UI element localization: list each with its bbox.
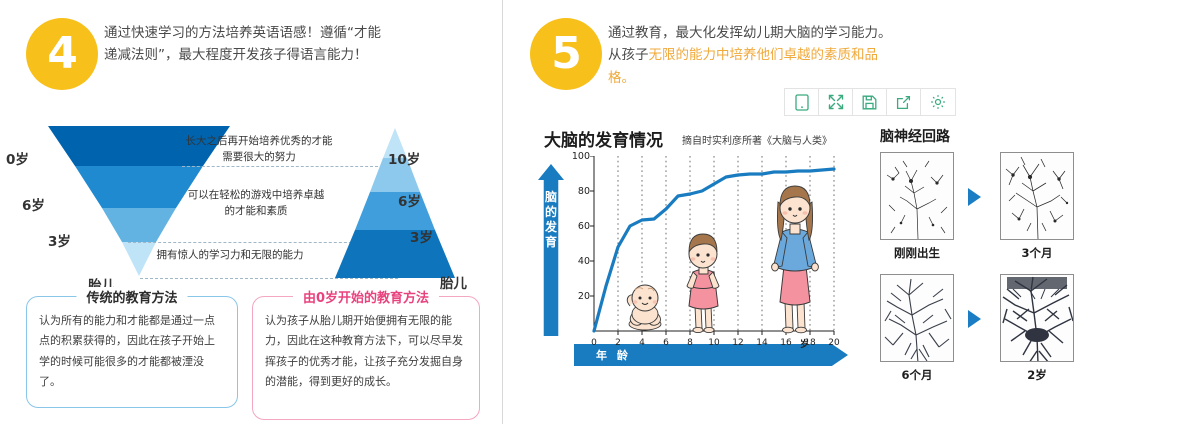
panel-divider <box>502 0 503 424</box>
editor-toolbar[interactable] <box>784 88 956 116</box>
diagram-caption-2: 拥有惊人的学习力和无限的能力 <box>130 248 330 264</box>
chart-subtitle: 摘自时实利彦所著《大脑与人类》 <box>682 132 832 147</box>
neuro-cell-newborn: 刚刚出生 <box>880 152 954 261</box>
baby-illustration <box>627 285 661 330</box>
age-label-left-1: 6岁 <box>22 194 45 214</box>
fullscreen-icon[interactable] <box>819 89 853 115</box>
neuro-cell-3months: 3个月 <box>1000 152 1074 261</box>
diagram-caption-1: 可以在轻松的游戏中培养卓越的才能和素质 <box>176 188 336 220</box>
neuro-caption-2years: 2岁 <box>1000 367 1074 383</box>
diagram-caption-1-text: 可以在轻松的游戏中培养卓越的才能和素质 <box>188 189 325 217</box>
teen-illustration <box>772 186 819 333</box>
zero-age-method-title: 由0岁开始的教育方法 <box>293 287 439 306</box>
y-tick-100: 100 <box>568 151 590 162</box>
traditional-method-title: 传统的教育方法 <box>76 287 187 306</box>
x-tick-2: 2 <box>610 338 626 348</box>
girl-illustration <box>687 234 719 333</box>
age-label-left-0: 0岁 <box>6 148 29 168</box>
neuron-image-6months <box>880 274 954 362</box>
x-tick-8: 8 <box>682 338 698 348</box>
neuron-image-3months <box>1000 152 1074 240</box>
neural-circuit-section: 脑神经回路 <box>880 126 1170 401</box>
x-tick-6: 6 <box>658 338 674 348</box>
neuro-cell-6months: 6个月 <box>880 274 954 383</box>
settings-icon[interactable] <box>921 89 955 115</box>
step-4-description: 通过快速学习的方法培养英语语感！遵循“才能递减法则”，最大程度开发孩子得语言能力… <box>104 22 394 67</box>
traditional-method-body: 认为所有的能力和才能都是通过一点点的积累获得的，因此在孩子开始上学的时候可能很多… <box>39 311 225 392</box>
chart-svg <box>572 156 838 344</box>
x-tick-0: 0 <box>586 338 602 348</box>
y-tick-80: 80 <box>568 186 590 197</box>
arrow-newborn-to-3m <box>968 188 981 206</box>
diagram-caption-0: 长大之后再开始培养优秀的才能需要很大的努力 <box>184 134 334 166</box>
step-badge-4: 4 <box>26 18 98 90</box>
step-5-text-highlight: 无限的能力中培养他们卓越的素质和品格。 <box>608 47 878 85</box>
neural-circuit-title: 脑神经回路 <box>880 126 950 146</box>
x-tick-10: 10 <box>706 338 722 348</box>
neuro-caption-6months: 6个月 <box>880 367 954 383</box>
zero-age-method-body: 认为孩子从胎儿期开始便拥有无限的能力，因此在这种教育方法下，可以尽早发挥孩子的优… <box>265 311 467 392</box>
neuron-image-newborn <box>880 152 954 240</box>
neuron-image-2years <box>1000 274 1074 362</box>
chart-title: 大脑的发育情况 <box>544 126 663 151</box>
x-axis-label: 年 龄 <box>596 347 631 363</box>
y-tick-60: 60 <box>568 221 590 232</box>
y-tick-20: 20 <box>568 291 590 302</box>
brain-development-chart: 大脑的发育情况 摘自时实利彦所著《大脑与人类》 脑的发育 年 龄 100 80 … <box>530 126 870 376</box>
neuro-caption-newborn: 刚刚出生 <box>880 245 954 261</box>
x-tick-4: 4 <box>634 338 650 348</box>
x-tick-14: 14 <box>754 338 770 348</box>
zero-age-method-box: 由0岁开始的教育方法 认为孩子从胎儿期开始便拥有无限的能力，因此在这种教育方法下… <box>252 296 480 420</box>
step-4-text: 通过快速学习的方法培养英语语感！遵循“才能递减法则”，最大程度开发孩子得语言能力… <box>104 25 381 63</box>
age-label-right-1: 6岁 <box>398 190 421 210</box>
neuro-caption-3months: 3个月 <box>1000 245 1074 261</box>
neuro-cell-2years: 2岁 <box>1000 274 1074 383</box>
share-icon[interactable] <box>887 89 921 115</box>
traditional-method-box: 传统的教育方法 认为所有的能力和才能都是通过一点点的积累获得的，因此在孩子开始上… <box>26 296 238 408</box>
arrow-6m-to-2y <box>968 310 981 328</box>
slide-canvas: 4 通过快速学习的方法培养英语语感！遵循“才能递减法则”，最大程度开发孩子得语言… <box>0 0 1201 424</box>
mobile-preview-icon[interactable] <box>785 89 819 115</box>
step-5-description: 通过教育，最大化发挥幼儿期大脑的学习能力。从孩子无限的能力中培养他们卓越的素质和… <box>608 22 898 89</box>
age-label-right-2: 3岁 <box>410 226 433 246</box>
diagram-caption-2-text: 拥有惊人的学习力和无限的能力 <box>157 249 304 261</box>
age-label-left-2: 3岁 <box>48 230 71 250</box>
x-tick-16: 16 <box>778 338 794 348</box>
age-label-right-0: 10岁 <box>388 148 420 168</box>
x-tick-12: 12 <box>730 338 746 348</box>
diagram-caption-0-text: 长大之后再开始培养优秀的才能需要很大的努力 <box>186 135 333 163</box>
y-axis-label: 脑的发育 <box>538 190 564 250</box>
age-label-right-3: 胎儿 <box>440 272 467 292</box>
x-tick-20: 20 <box>826 338 842 348</box>
save-icon[interactable] <box>853 89 887 115</box>
chart-plot-area: 100 80 60 40 20 <box>572 156 838 348</box>
step-badge-5: 5 <box>530 18 602 90</box>
y-axis-label-arrow: 脑的发育 <box>538 164 564 336</box>
y-tick-40: 40 <box>568 256 590 267</box>
x-axis-unit: 岁 <box>800 337 809 350</box>
